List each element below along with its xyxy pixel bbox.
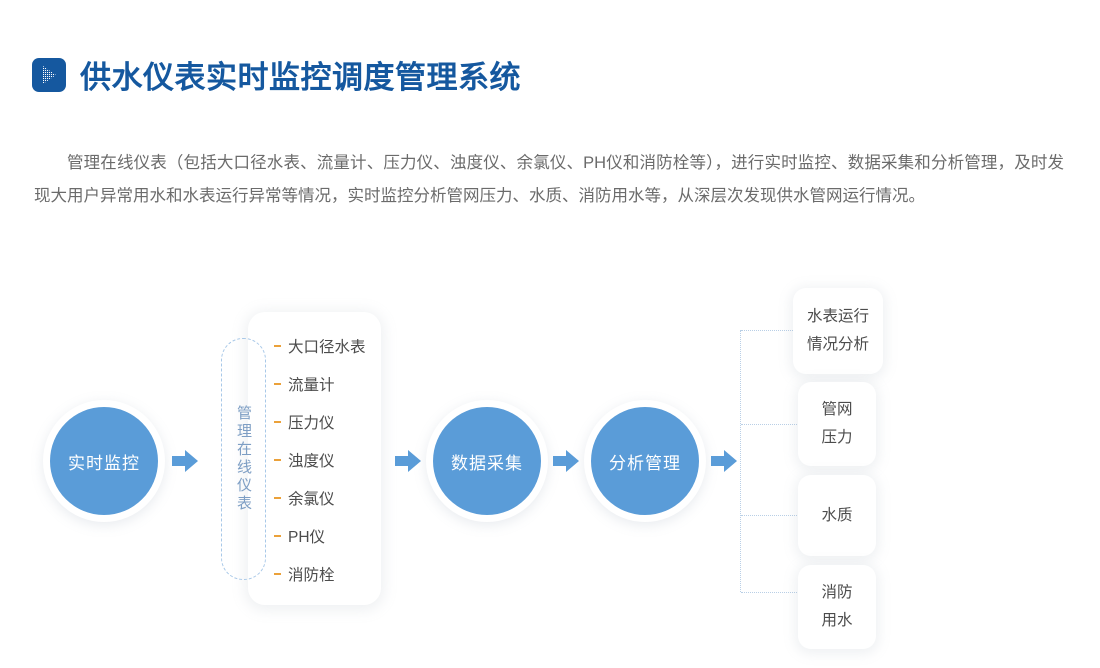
instrument-label: 压力仪 bbox=[288, 411, 335, 433]
page-title: 供水仪表实时监控调度管理系统 bbox=[80, 52, 521, 97]
instrument-label: 流量计 bbox=[288, 373, 335, 395]
stage-label: 实时监控 bbox=[68, 449, 140, 474]
list-item: 压力仪 bbox=[274, 403, 375, 441]
outcome-card-pipe-pressure: 管网 压力 bbox=[798, 382, 876, 466]
outcome-label-line1: 管网 bbox=[821, 396, 852, 424]
flow-arrow-icon bbox=[711, 450, 737, 472]
stage-circle-analysis: 分析管理 bbox=[591, 407, 699, 515]
outcome-label-line2: 情况分析 bbox=[807, 331, 869, 359]
dash-bullet-icon bbox=[274, 345, 281, 347]
instrument-label: 消防栓 bbox=[288, 563, 335, 585]
outcome-card-meter-operation: 水表运行 情况分析 bbox=[793, 288, 883, 374]
flow-arrow-icon bbox=[395, 450, 421, 472]
dash-bullet-icon bbox=[274, 573, 281, 575]
dash-bullet-icon bbox=[274, 497, 281, 499]
stage-label: 分析管理 bbox=[609, 449, 681, 474]
outcome-label-line2: 用水 bbox=[821, 607, 852, 635]
list-item: 大口径水表 bbox=[274, 327, 375, 365]
list-item: 流量计 bbox=[274, 365, 375, 403]
outcome-label-line1: 水表运行 bbox=[807, 303, 869, 331]
instrument-label: PH仪 bbox=[288, 525, 325, 547]
flow-arrow-icon bbox=[172, 450, 198, 472]
outcome-label-line1: 水质 bbox=[821, 502, 852, 530]
dash-bullet-icon bbox=[274, 459, 281, 461]
instrument-list: 大口径水表 流量计 压力仪 浊度仪 余氯仪 PH仪 bbox=[274, 327, 375, 593]
play-badge-icon bbox=[32, 58, 66, 92]
list-item: 余氯仪 bbox=[274, 479, 375, 517]
list-item: 浊度仪 bbox=[274, 441, 375, 479]
stage-circle-monitoring: 实时监控 bbox=[50, 407, 158, 515]
process-flow-diagram: 实时监控 管理在线仪表 大口径水表 流量计 压力仪 浊度仪 bbox=[0, 270, 1100, 668]
flow-arrow-icon bbox=[553, 450, 579, 472]
outcome-bracket-connector bbox=[740, 330, 797, 592]
list-item: 消防栓 bbox=[274, 555, 375, 593]
instrument-label: 大口径水表 bbox=[288, 335, 366, 357]
page-header: 供水仪表实时监控调度管理系统 bbox=[32, 52, 521, 97]
intro-paragraph: 管理在线仪表（包括大口径水表、流量计、压力仪、浊度仪、余氯仪、PH仪和消防栓等）… bbox=[34, 147, 1064, 213]
stage-circle-data-collection: 数据采集 bbox=[433, 407, 541, 515]
instrument-label: 余氯仪 bbox=[288, 487, 335, 509]
dash-bullet-icon bbox=[274, 383, 281, 385]
outcome-label-line1: 消防 bbox=[821, 579, 852, 607]
outcome-card-fire-water: 消防 用水 bbox=[798, 565, 876, 649]
list-item: PH仪 bbox=[274, 517, 375, 555]
dash-bullet-icon bbox=[274, 421, 281, 423]
dash-bullet-icon bbox=[274, 535, 281, 537]
instrument-group-label: 管理在线仪表 bbox=[236, 405, 251, 513]
stage-label: 数据采集 bbox=[451, 449, 523, 474]
instrument-list-card: 大口径水表 流量计 压力仪 浊度仪 余氯仪 PH仪 bbox=[248, 312, 381, 605]
instrument-group-pill: 管理在线仪表 bbox=[221, 338, 266, 580]
instrument-label: 浊度仪 bbox=[288, 449, 335, 471]
outcome-label-line2: 压力 bbox=[821, 424, 852, 452]
outcome-card-water-quality: 水质 bbox=[798, 475, 876, 556]
